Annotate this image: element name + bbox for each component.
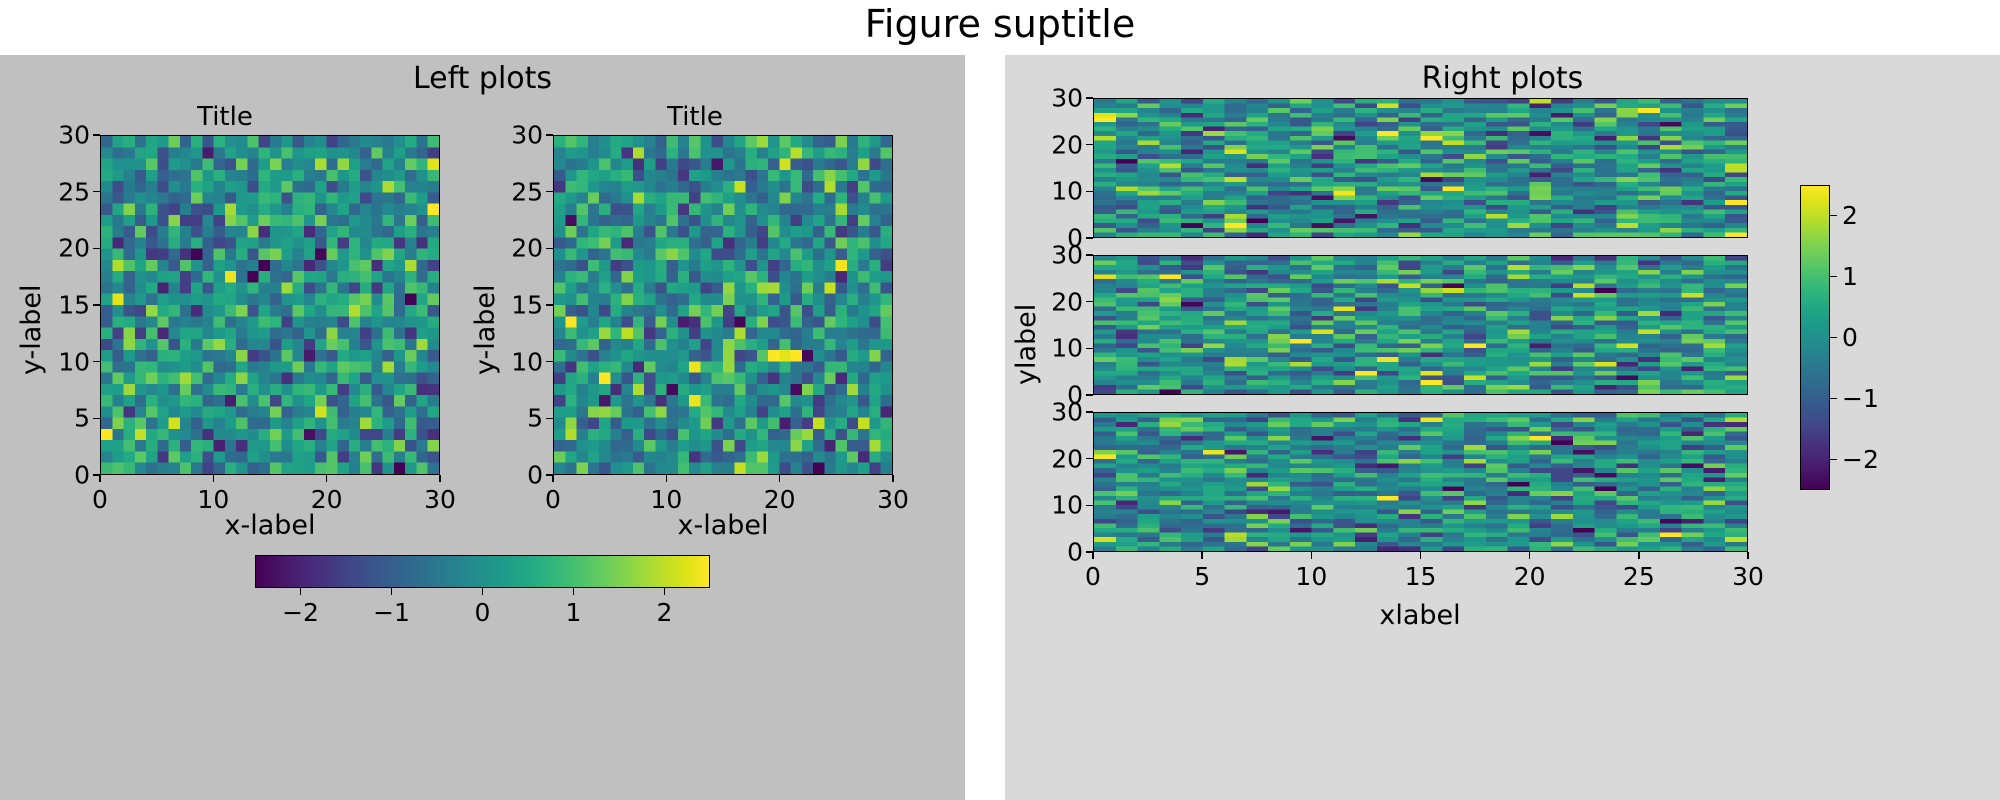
vertical-colorbar-ticklabel-2: 0 [1842, 323, 1858, 352]
vertical-colorbar-tickmark-0 [1830, 215, 1837, 217]
left-axes-1-ytickmark-6 [93, 134, 100, 136]
left-axes-1-ytickmark-5 [93, 191, 100, 193]
left-subfigure-title: Left plots [0, 61, 965, 96]
horizontal-colorbar-ticklabel-2: 0 [475, 598, 491, 627]
right-axes-3-ytickmark-1 [1086, 505, 1093, 507]
left-axes-1-ytickmark-3 [93, 304, 100, 306]
right-axes-1[interactable] [1093, 98, 1748, 238]
left-axes-2-xtickmark-0 [552, 475, 554, 482]
left-axes-1-yticklabel-0: 0 [48, 461, 90, 490]
right-axes-3-yticklabel-1: 10 [1041, 491, 1083, 520]
right-axes-3-yticklabel-3: 30 [1041, 398, 1083, 427]
right-axes-2[interactable] [1093, 255, 1748, 395]
left-axes-2-xticklabel-2: 20 [764, 485, 796, 514]
left-axes-1-ytickmark-2 [93, 361, 100, 363]
left-axes-2-ytickmark-2 [546, 361, 553, 363]
left-axes-1-xticklabel-3: 30 [424, 485, 456, 514]
left-axes-2[interactable] [553, 135, 893, 475]
left-axes-1-xticklabel-0: 0 [92, 485, 108, 514]
right-axes-1-yticklabel-3: 30 [1041, 84, 1083, 113]
left-axes-1-yticklabel-6: 30 [48, 121, 90, 150]
left-axes-1-yticklabel-3: 15 [48, 291, 90, 320]
right-axes-2-ytickmark-2 [1086, 301, 1093, 303]
right-axes-2-yticklabel-3: 30 [1041, 241, 1083, 270]
left-axes-2-ytickmark-6 [546, 134, 553, 136]
left-axes-1-xtickmark-1 [213, 475, 215, 482]
vertical-colorbar-tickmark-2 [1830, 337, 1837, 339]
left-axes-2-xtickmark-3 [892, 475, 894, 482]
right-axes-2-ytickmark-3 [1086, 254, 1093, 256]
left-axes-2-ytickmark-4 [546, 248, 553, 250]
right-axes-1-yticklabel-1: 10 [1041, 177, 1083, 206]
vertical-colorbar[interactable] [1800, 185, 1830, 490]
right-axes-3-xticklabel-2: 10 [1295, 562, 1327, 591]
right-axes-2-yticklabel-1: 10 [1041, 334, 1083, 363]
right-axes-3-xticklabel-5: 25 [1623, 562, 1655, 591]
left-axes-2-xlabel: x-label [677, 510, 768, 541]
left-axes-2-yticklabel-4: 20 [501, 234, 543, 263]
left-axes-1-ytickmark-0 [93, 474, 100, 476]
left-axes-1-xtickmark-2 [326, 475, 328, 482]
vertical-colorbar-ticklabel-1: 1 [1842, 262, 1858, 291]
left-axes-2-ytickmark-1 [546, 418, 553, 420]
right-axes-3-xtickmark-0 [1092, 552, 1094, 559]
right-axes-3-ytickmark-2 [1086, 458, 1093, 460]
right-axes-3-xtickmark-4 [1529, 552, 1531, 559]
left-axes-2-title: Title [495, 102, 895, 132]
horizontal-colorbar-tickmark-0 [300, 588, 302, 595]
right-axes-2-ytickmark-1 [1086, 348, 1093, 350]
left-axes-2-xticklabel-1: 10 [650, 485, 682, 514]
horizontal-colorbar-tickmark-3 [573, 588, 575, 595]
left-axes-1-ylabel: y-label [16, 284, 47, 375]
right-axes-3-xtickmark-3 [1420, 552, 1422, 559]
right-axes-3-xticklabel-0: 0 [1085, 562, 1101, 591]
right-axes-3-yticklabel-0: 0 [1041, 538, 1083, 567]
right-axes-1-ytickmark-2 [1086, 144, 1093, 146]
left-axes-2-yticklabel-2: 10 [501, 347, 543, 376]
left-axes-1-xticklabel-2: 20 [311, 485, 343, 514]
left-axes-2-ylabel: y-label [470, 284, 501, 375]
right-axes-3-xticklabel-4: 20 [1514, 562, 1546, 591]
matplotlib-figure: Figure suptitle Left plots Title x-label… [0, 0, 2000, 800]
right-subfigure: Right plots ylabel xlabel 01020300102030… [1005, 55, 2000, 800]
right-axes-2-ytickmark-0 [1086, 394, 1093, 396]
left-axes-1-ytickmark-1 [93, 418, 100, 420]
vertical-colorbar-tickmark-3 [1830, 398, 1837, 400]
left-axes-1-ytickmark-4 [93, 248, 100, 250]
left-axes-2-xtickmark-1 [666, 475, 668, 482]
left-axes-1-xticklabel-1: 10 [197, 485, 229, 514]
right-axes-3-xticklabel-6: 30 [1732, 562, 1764, 591]
right-axes-3[interactable] [1093, 412, 1748, 552]
horizontal-colorbar-tickmark-2 [482, 588, 484, 595]
left-axes-2-xtickmark-2 [779, 475, 781, 482]
figure-suptitle: Figure suptitle [0, 2, 2000, 46]
vertical-colorbar-ticklabel-3: −1 [1842, 384, 1879, 413]
left-subfigure: Left plots Title x-label y-label Title x… [0, 55, 965, 800]
left-axes-2-yticklabel-5: 25 [501, 177, 543, 206]
left-axes-2-ytickmark-5 [546, 191, 553, 193]
right-axes-3-xtickmark-5 [1638, 552, 1640, 559]
horizontal-colorbar-tickmark-1 [391, 588, 393, 595]
horizontal-colorbar-ticklabel-4: 2 [657, 598, 673, 627]
right-axes-1-ytickmark-3 [1086, 97, 1093, 99]
horizontal-colorbar-ticklabel-0: −2 [282, 598, 319, 627]
left-axes-1-xlabel: x-label [224, 510, 315, 541]
right-axes-2-yticklabel-2: 20 [1041, 287, 1083, 316]
left-axes-2-yticklabel-1: 5 [501, 404, 543, 433]
right-axes-1-ytickmark-0 [1086, 237, 1093, 239]
vertical-colorbar-tickmark-1 [1830, 276, 1837, 278]
horizontal-colorbar-ticklabel-3: 1 [566, 598, 582, 627]
right-axes-2-ylabel: ylabel [1011, 304, 1042, 385]
right-axes-3-ytickmark-3 [1086, 411, 1093, 413]
right-subfigure-title: Right plots [1005, 61, 2000, 96]
vertical-colorbar-ticklabel-4: −2 [1842, 445, 1879, 474]
horizontal-colorbar-ticklabel-1: −1 [373, 598, 410, 627]
right-axes-1-yticklabel-2: 20 [1041, 130, 1083, 159]
left-axes-1-xtickmark-3 [439, 475, 441, 482]
right-axes-3-xtickmark-1 [1201, 552, 1203, 559]
left-axes-1[interactable] [100, 135, 440, 475]
right-axes-3-xtickmark-2 [1311, 552, 1313, 559]
left-axes-1-yticklabel-5: 25 [48, 177, 90, 206]
right-axes-3-xtickmark-6 [1747, 552, 1749, 559]
right-axes-3-ytickmark-0 [1086, 551, 1093, 553]
vertical-colorbar-ticklabel-0: 2 [1842, 201, 1858, 230]
horizontal-colorbar-tickmark-4 [664, 588, 666, 595]
right-axes-1-ytickmark-1 [1086, 191, 1093, 193]
right-axes-3-xticklabel-3: 15 [1405, 562, 1437, 591]
left-axes-2-xticklabel-0: 0 [545, 485, 561, 514]
left-axes-2-ytickmark-3 [546, 304, 553, 306]
right-axes-3-xticklabel-1: 5 [1194, 562, 1210, 591]
left-axes-1-xtickmark-0 [99, 475, 101, 482]
right-axes-3-xlabel: xlabel [1379, 600, 1460, 631]
left-axes-2-yticklabel-0: 0 [501, 461, 543, 490]
right-axes-3-yticklabel-2: 20 [1041, 444, 1083, 473]
left-axes-2-yticklabel-6: 30 [501, 121, 543, 150]
left-axes-2-yticklabel-3: 15 [501, 291, 543, 320]
left-axes-2-xticklabel-3: 30 [877, 485, 909, 514]
left-axes-2-ytickmark-0 [546, 474, 553, 476]
left-axes-1-yticklabel-2: 10 [48, 347, 90, 376]
left-axes-1-yticklabel-1: 5 [48, 404, 90, 433]
vertical-colorbar-tickmark-4 [1830, 459, 1837, 461]
horizontal-colorbar[interactable] [255, 555, 710, 588]
left-axes-1-yticklabel-4: 20 [48, 234, 90, 263]
